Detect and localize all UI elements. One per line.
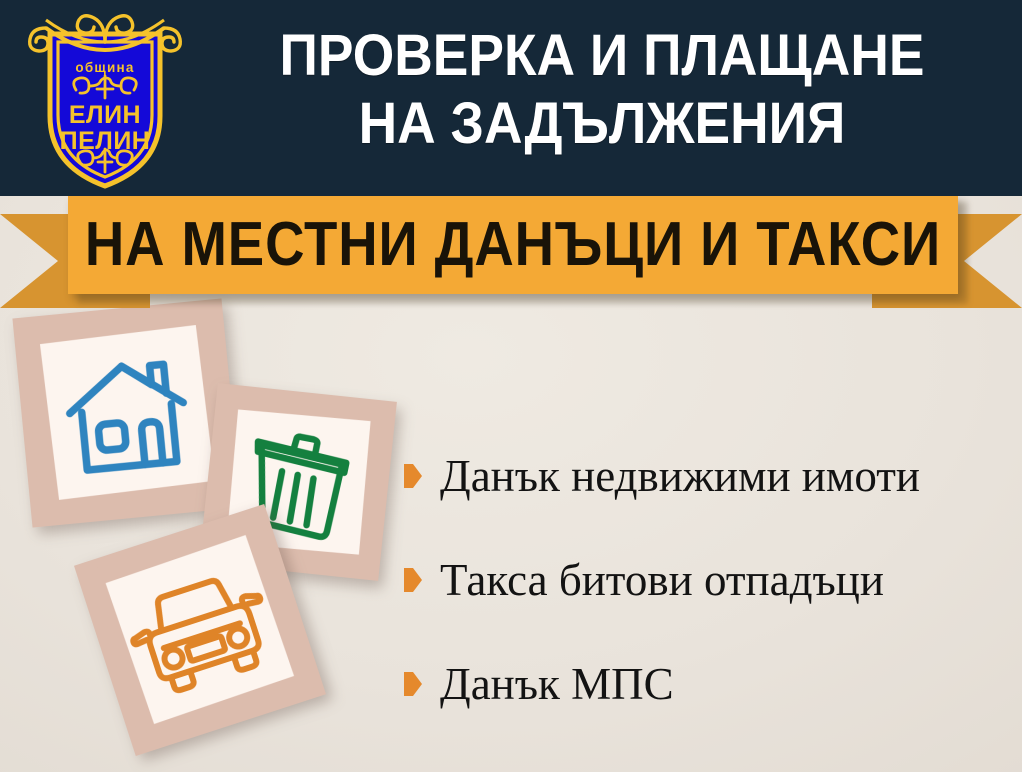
list-item[interactable]: Такса битови отпадъци (404, 528, 1014, 632)
arrow-bullet-icon (404, 672, 422, 696)
page-title: ПРОВЕРКА И ПЛАЩАНЕ НА ЗАДЪЛЖЕНИЯ (228, 22, 975, 158)
list-item-label: Данък МПС (440, 659, 674, 709)
list-item[interactable]: Данък недвижими имоти (404, 424, 1014, 528)
page-title-line-2: НА ЗАДЪЛЖЕНИЯ (228, 90, 975, 158)
municipality-crest-logo: община ЕЛИН ПЕЛИН (16, 6, 194, 192)
list-item[interactable]: Данък МПС (404, 632, 1014, 736)
ribbon-banner: НА МЕСТНИ ДАНЪЦИ И ТАКСИ (0, 196, 1022, 308)
ribbon-text: НА МЕСТНИ ДАНЪЦИ И ТАКСИ (121, 196, 904, 294)
page-title-line-1: ПРОВЕРКА И ПЛАЩАНЕ (228, 22, 975, 90)
list-item-label: Такса битови отпадъци (440, 555, 884, 605)
crest-shield-icon: община ЕЛИН ПЕЛИН (16, 6, 194, 192)
crest-municipality-word: община (75, 60, 134, 75)
arrow-bullet-icon (404, 568, 422, 592)
crest-name-line-1: ЕЛИН (69, 101, 141, 129)
arrow-bullet-icon (404, 464, 422, 488)
poster-canvas: НА МЕСТНИ ДАНЪЦИ И ТАКСИ ПРОВЕРКА И ПЛАЩ… (0, 0, 1022, 772)
tax-types-list: Данък недвижими имоти Такса битови отпад… (404, 424, 1014, 736)
list-item-label: Данък недвижими имоти (440, 451, 920, 501)
